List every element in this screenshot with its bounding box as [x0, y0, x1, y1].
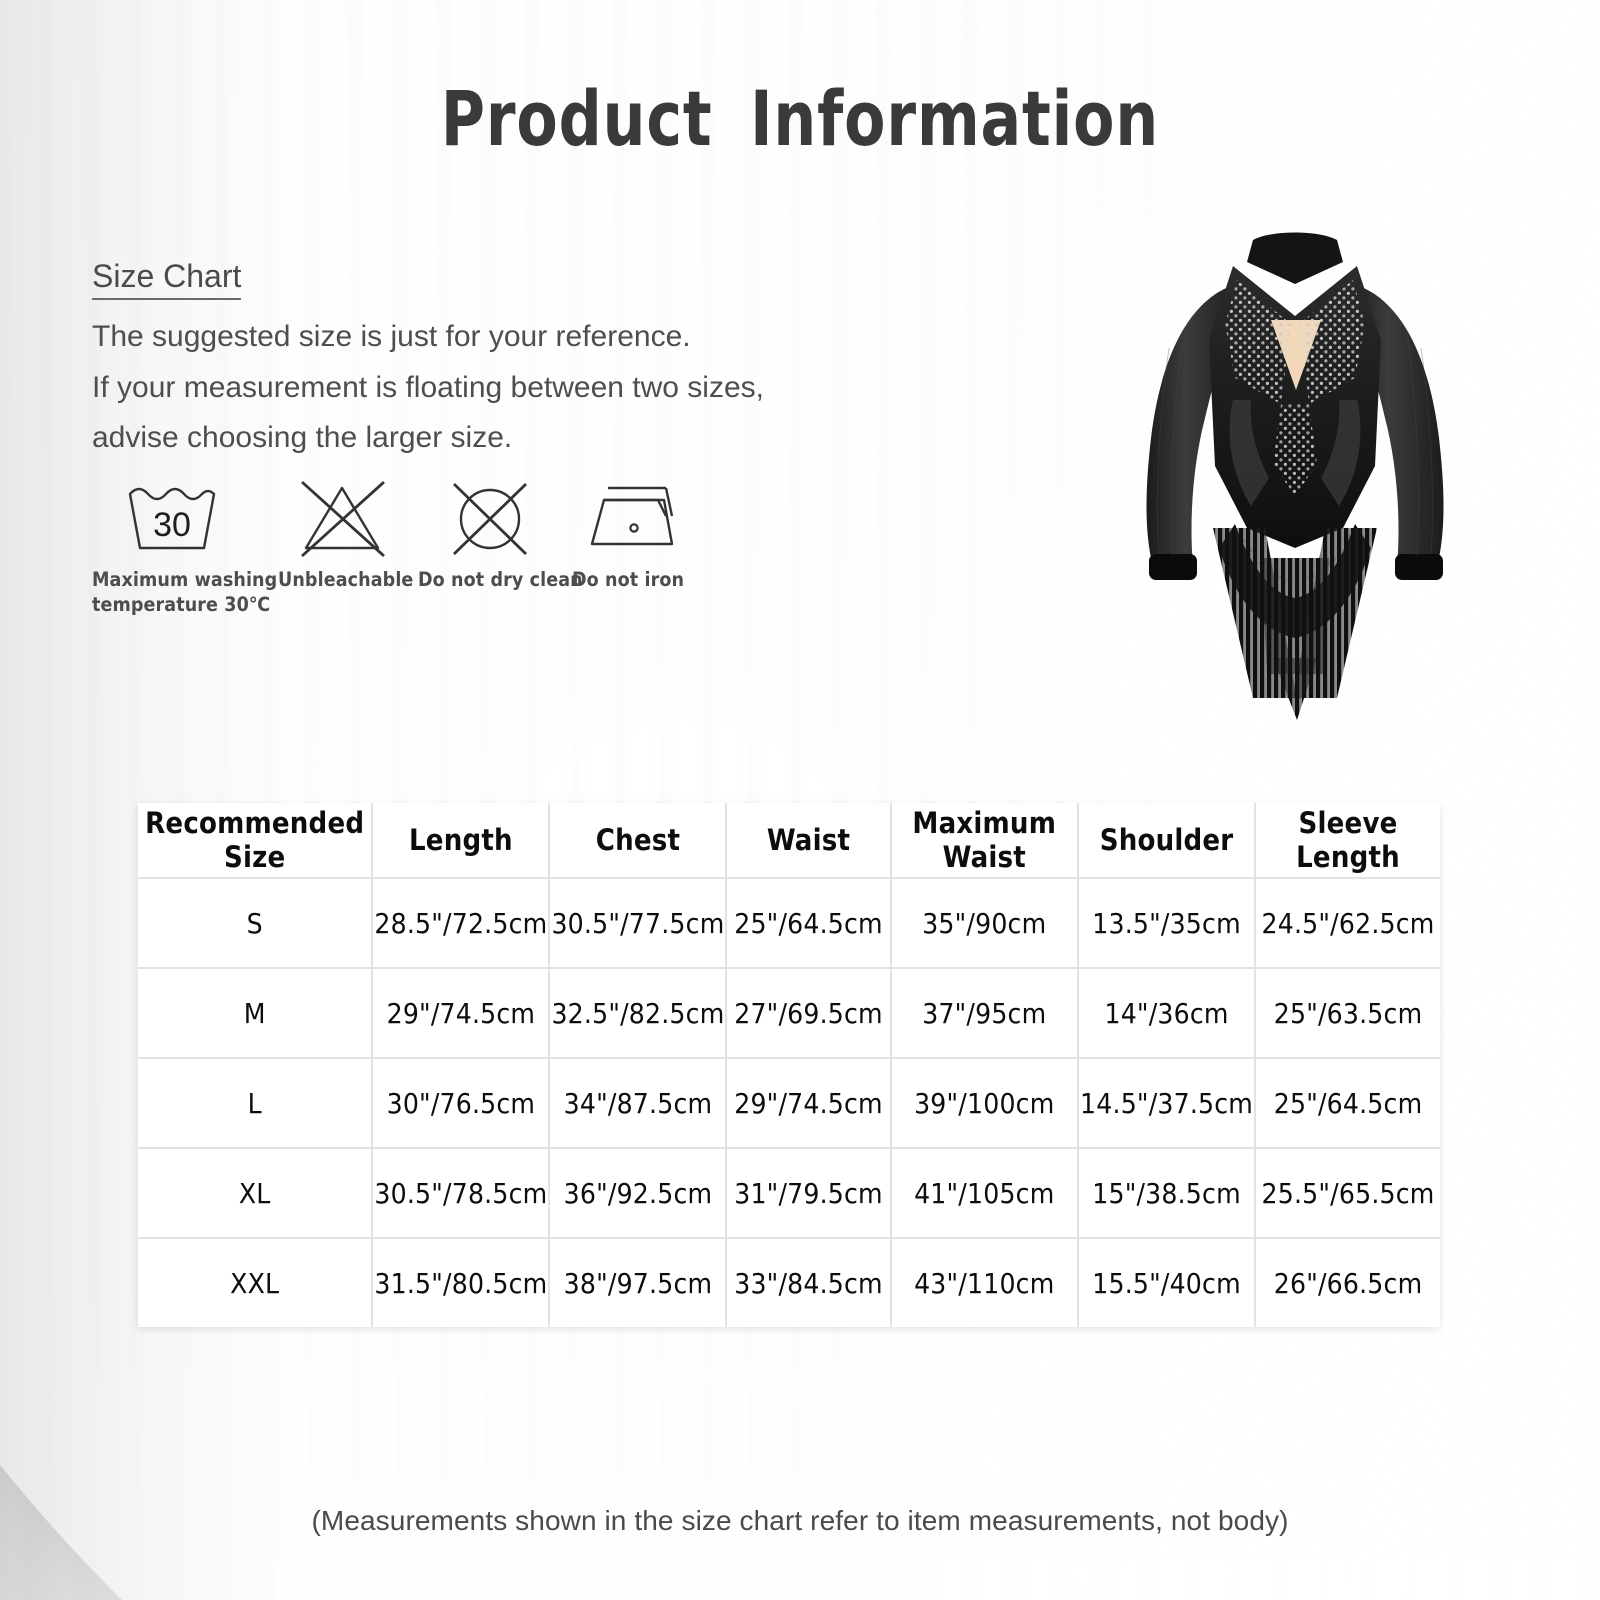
- cell-length: 30.5"/78.5cm: [372, 1148, 549, 1238]
- cell-size: M: [138, 968, 372, 1058]
- left-cuff: [1149, 554, 1197, 580]
- cell-shoulder: 13.5"/35cm: [1078, 878, 1255, 968]
- column-header-shoulder: Shoulder: [1078, 803, 1255, 878]
- cell-waist: 33"/84.5cm: [726, 1238, 890, 1327]
- size-chart-line-1: The suggested size is just for your refe…: [92, 314, 912, 360]
- size-chart-table: Recommended Size Length Chest Waist Maxi…: [138, 803, 1440, 1327]
- no-dry-clean-circle-icon: [444, 480, 536, 558]
- cell-size: L: [138, 1058, 372, 1148]
- cell-maximum-waist: 37"/95cm: [891, 968, 1078, 1058]
- cell-chest: 36"/92.5cm: [549, 1148, 726, 1238]
- wash-temperature-value: 30: [153, 506, 191, 544]
- size-chart-line-3: advise choosing the larger size.: [92, 415, 912, 461]
- cell-sleeve-length: 26"/66.5cm: [1255, 1238, 1440, 1327]
- cell-shoulder: 15.5"/40cm: [1078, 1238, 1255, 1327]
- table-row: XXL 31.5"/80.5cm 38"/97.5cm 33"/84.5cm 4…: [138, 1238, 1440, 1327]
- care-instructions: 30 Maximum washing temperature 30℃ Unble…: [92, 480, 712, 570]
- center-fringe: [1261, 558, 1329, 674]
- garment-illustration: [1085, 228, 1505, 728]
- no-dry-clean-label: Do not dry clean: [418, 568, 598, 593]
- column-header-sleeve-length: Sleeve Length: [1255, 803, 1440, 878]
- cell-waist: 29"/74.5cm: [726, 1058, 890, 1148]
- cell-sleeve-length: 24.5"/62.5cm: [1255, 878, 1440, 968]
- measurement-footnote: (Measurements shown in the size chart re…: [0, 1505, 1600, 1537]
- cell-sleeve-length: 25.5"/65.5cm: [1255, 1148, 1440, 1238]
- product-photo: [1085, 228, 1505, 728]
- cell-maximum-waist: 35"/90cm: [891, 878, 1078, 968]
- cell-sleeve-length: 25"/63.5cm: [1255, 968, 1440, 1058]
- cell-chest: 38"/97.5cm: [549, 1238, 726, 1327]
- cell-maximum-waist: 43"/110cm: [891, 1238, 1078, 1327]
- cell-shoulder: 14"/36cm: [1078, 968, 1255, 1058]
- cell-waist: 25"/64.5cm: [726, 878, 890, 968]
- cell-size: XXL: [138, 1238, 372, 1327]
- size-chart-note: Size Chart The suggested size is just fo…: [92, 258, 912, 466]
- cell-chest: 32.5"/82.5cm: [549, 968, 726, 1058]
- no-bleach-label: Unbleachable: [278, 568, 438, 593]
- no-iron-label: Do not iron: [572, 568, 712, 593]
- size-chart-line-2: If your measurement is floating between …: [92, 365, 912, 411]
- table-row: XL 30.5"/78.5cm 36"/92.5cm 31"/79.5cm 41…: [138, 1148, 1440, 1238]
- cell-waist: 27"/69.5cm: [726, 968, 890, 1058]
- cell-size: XL: [138, 1148, 372, 1238]
- cell-shoulder: 14.5"/37.5cm: [1078, 1058, 1255, 1148]
- table-row: S 28.5"/72.5cm 30.5"/77.5cm 25"/64.5cm 3…: [138, 878, 1440, 968]
- cell-length: 28.5"/72.5cm: [372, 878, 549, 968]
- cell-maximum-waist: 39"/100cm: [891, 1058, 1078, 1148]
- cell-size: S: [138, 878, 372, 968]
- wash-label: Maximum washing temperature 30℃: [92, 568, 302, 618]
- no-bleach-triangle-icon: [292, 480, 392, 558]
- wash-tub-30-icon: 30: [124, 480, 220, 554]
- column-header-length: Length: [372, 803, 549, 878]
- cell-length: 31.5"/80.5cm: [372, 1238, 549, 1327]
- column-header-chest: Chest: [549, 803, 726, 878]
- cell-sleeve-length: 25"/64.5cm: [1255, 1058, 1440, 1148]
- column-header-maximum-waist: Maximum Waist: [891, 803, 1078, 878]
- cell-maximum-waist: 41"/105cm: [891, 1148, 1078, 1238]
- size-chart-heading: Size Chart: [92, 258, 241, 300]
- cell-shoulder: 15"/38.5cm: [1078, 1148, 1255, 1238]
- column-header-recommended-size: Recommended Size: [138, 803, 372, 878]
- cell-chest: 34"/87.5cm: [549, 1058, 726, 1148]
- cell-chest: 30.5"/77.5cm: [549, 878, 726, 968]
- cell-length: 30"/76.5cm: [372, 1058, 549, 1148]
- table-row: M 29"/74.5cm 32.5"/82.5cm 27"/69.5cm 37"…: [138, 968, 1440, 1058]
- right-cuff: [1395, 554, 1443, 580]
- column-header-waist: Waist: [726, 803, 890, 878]
- table-row: L 30"/76.5cm 34"/87.5cm 29"/74.5cm 39"/1…: [138, 1058, 1440, 1148]
- cell-waist: 31"/79.5cm: [726, 1148, 890, 1238]
- page-title: Product Information: [96, 74, 1504, 163]
- cell-length: 29"/74.5cm: [372, 968, 549, 1058]
- no-iron-icon: [582, 480, 682, 558]
- neck-band: [1247, 233, 1343, 285]
- table-header-row: Recommended Size Length Chest Waist Maxi…: [138, 803, 1440, 878]
